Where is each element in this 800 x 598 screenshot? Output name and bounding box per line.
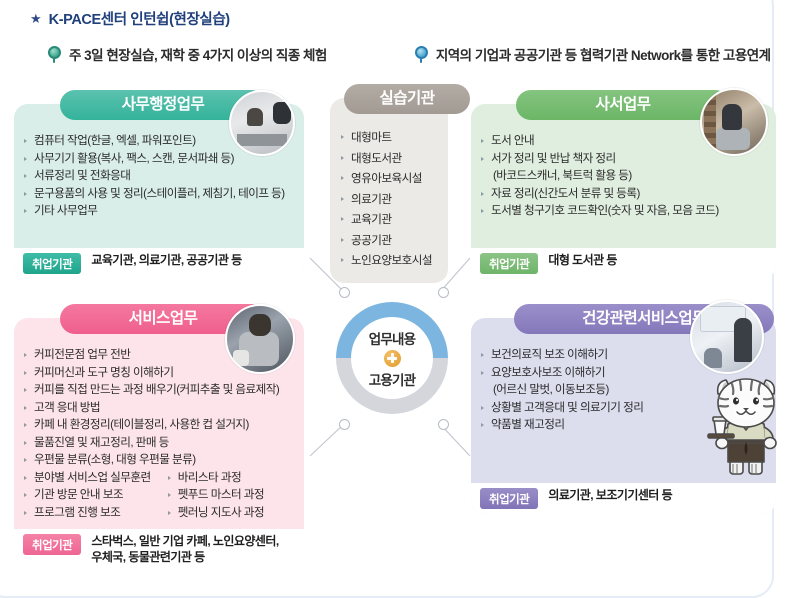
service-work-two-column: 분야별 서비스업 실무훈련 기관 방문 안내 보조 프로그램 진행 보조 바리스…: [23, 469, 296, 522]
service-work-col-right: 바리스타 과정 펫푸드 마스터 과정 펫러닝 지도사 과정: [167, 469, 296, 522]
library-work-photo: [700, 88, 768, 156]
list-item: 커피를 직접 만드는 과정 배우기(커피추출 및 음료제작): [23, 381, 296, 399]
list-item: 문구용품의 사용 및 정리(스테이플러, 제침기, 테이프 등): [23, 185, 296, 203]
list-item: 분야별 서비스업 실무훈련: [23, 469, 167, 487]
office-admin-employer-bar: 취업기관 교육기관, 의료기관, 공공기관 등: [14, 248, 304, 279]
health-service-employer-text: 의료기관, 보조기기센터 등: [548, 488, 672, 504]
list-item: 펫러닝 지도사 과정: [167, 504, 296, 522]
map-pin-icon-blue: [415, 46, 428, 62]
list-item-continuation: (바코드스캐너, 북트럭 활용 등): [480, 167, 768, 185]
status-badge: 취업기관: [23, 253, 81, 274]
service-work-photo: [225, 304, 295, 374]
list-item: 노인요양보호시설: [340, 251, 442, 272]
office-admin-employer-text: 교육기관, 의료기관, 공공기관 등: [91, 253, 241, 269]
connector-node-top-right: [438, 287, 449, 298]
service-work-employer-bar: 취업기관 스타벅스, 일반 기업 카페, 노인요양센터, 우체국, 동물관련기관…: [14, 529, 304, 570]
status-badge: 취업기관: [480, 488, 538, 509]
list-item: 교육기관: [340, 210, 442, 231]
list-item: 기타 사무업무: [23, 202, 296, 220]
infographic-page: ★ K-PACE센터 인턴쉽(현장실습) 주 3일 현장실습, 재학 중 4가지…: [0, 0, 800, 598]
hub-inner: 업무내용 고용기관: [351, 317, 433, 399]
plus-circle-icon: [384, 350, 401, 367]
list-item: 대형마트: [340, 128, 442, 149]
status-badge: 취업기관: [23, 534, 81, 555]
librarian-employer-bar: 취업기관 대형 도서관 등: [471, 248, 776, 279]
list-item: 우편물 분류(소형, 대형 우편물 분류): [23, 451, 296, 469]
office-work-photo: [229, 90, 295, 156]
page-title: K-PACE센터 인턴쉽(현장실습): [49, 8, 230, 29]
service-work-employer-line2: 우체국, 동물관련기관 등: [91, 550, 204, 564]
center-hub: 업무내용 고용기관: [336, 302, 448, 414]
list-item: 물품진열 및 재고정리, 판매 등: [23, 434, 296, 452]
health-service-employer-bar: 취업기관 의료기관, 보조기기센터 등: [471, 483, 776, 514]
service-work-employer-text: 스타벅스, 일반 기업 카페, 노인요양센터, 우체국, 동물관련기관 등: [91, 534, 278, 565]
header-bullet-2: 지역의 기업과 공공기관 등 협력기관 Network를 통한 고용연계: [415, 44, 771, 64]
card-librarian-title: 사서업무: [516, 90, 730, 120]
list-item: 고객 응대 방법: [23, 399, 296, 417]
list-item: 의료기관: [340, 190, 442, 211]
list-item: 프로그램 진행 보조: [23, 504, 167, 522]
header-bullets: 주 3일 현장실습, 재학 중 4가지 이상의 직종 체험 지역의 기업과 공공…: [48, 44, 788, 64]
star-icon: ★: [30, 12, 42, 25]
page-title-row: ★ K-PACE센터 인턴쉽(현장실습): [30, 8, 230, 29]
card-practicum-title: 실습기관: [344, 84, 470, 114]
service-work-col-left: 분야별 서비스업 실무훈련 기관 방문 안내 보조 프로그램 진행 보조: [23, 469, 167, 522]
list-item: 도서별 청구기호 코드확인(숫자 및 자음, 모음 코드): [480, 202, 768, 220]
header-bullet-1: 주 3일 현장실습, 재학 중 4가지 이상의 직종 체험: [48, 44, 327, 64]
connector-node-top-left: [339, 287, 350, 298]
header-bullet-2-label: 지역의 기업과 공공기관 등 협력기관 Network를 통한 고용연계: [436, 44, 771, 64]
list-item: 영유아보육시설: [340, 169, 442, 190]
list-item: 자료 정리(신간도서 분류 및 등록): [480, 185, 768, 203]
list-item: 카페 내 환경정리(테이블정리, 사용한 컵 설거지): [23, 416, 296, 434]
health-work-photo: [690, 300, 764, 374]
card-practicum-body: 대형마트 대형도서관 영유아보육시설 의료기관 교육기관 공공기관 노인요양보호…: [340, 128, 442, 272]
connector-node-bottom-right: [438, 419, 449, 430]
connector-node-bottom-left: [339, 419, 350, 430]
list-item: 서류정리 및 전화응대: [23, 167, 296, 185]
list-item: 대형도서관: [340, 149, 442, 170]
list-item: 펫푸드 마스터 과정: [167, 486, 296, 504]
map-pin-icon-green: [48, 46, 61, 62]
hub-bottom-label: 고용기관: [369, 369, 415, 389]
status-badge: 취업기관: [480, 253, 538, 274]
header-bullet-1-label: 주 3일 현장실습, 재학 중 4가지 이상의 직종 체험: [69, 44, 327, 64]
hub-top-label: 업무내용: [369, 328, 415, 348]
white-tiger-mascot: [700, 372, 792, 480]
librarian-employer-text: 대형 도서관 등: [548, 253, 617, 269]
list-item: 바리스타 과정: [167, 469, 296, 487]
service-work-employer-line1: 스타벅스, 일반 기업 카페, 노인요양센터,: [91, 534, 278, 548]
card-practicum-institutions: 실습기관 대형마트 대형도서관 영유아보육시설 의료기관 교육기관 공공기관 노…: [330, 98, 448, 283]
practicum-list: 대형마트 대형도서관 영유아보육시설 의료기관 교육기관 공공기관 노인요양보호…: [340, 128, 442, 272]
list-item: 공공기관: [340, 231, 442, 252]
list-item: 기관 방문 안내 보조: [23, 486, 167, 504]
